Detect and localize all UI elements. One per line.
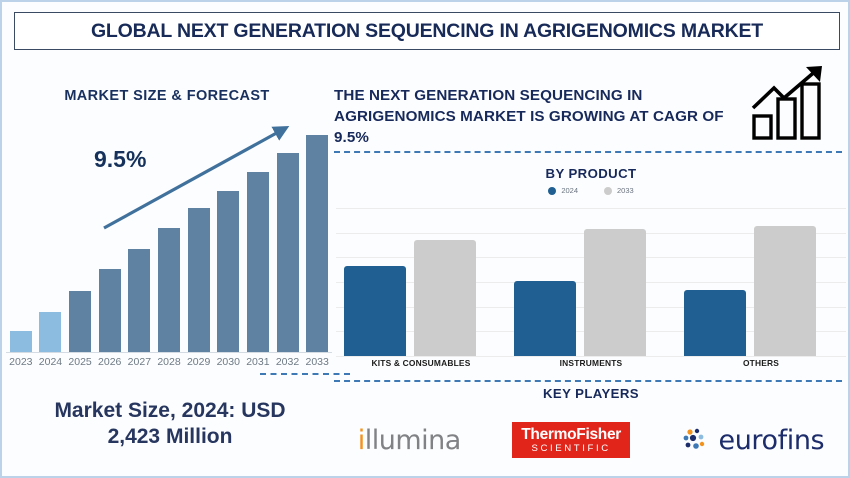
forecast-year-label: 2025 — [64, 356, 96, 368]
by-product-title: BY PRODUCT — [332, 166, 850, 181]
forecast-bar-fill — [158, 228, 180, 352]
legend-item[interactable]: 2024 — [548, 186, 578, 195]
forecast-bar — [247, 172, 269, 352]
forecast-year-label: 2030 — [212, 356, 244, 368]
product-bar — [754, 226, 816, 356]
legend-label: 2033 — [617, 186, 634, 195]
forecast-year-label: 2028 — [153, 356, 185, 368]
infographic-root: GLOBAL NEXT GENERATION SEQUENCING IN AGR… — [0, 0, 850, 478]
legend-swatch-icon — [604, 187, 612, 195]
forecast-bar — [306, 135, 328, 352]
eurofins-logo: eurofins — [681, 425, 824, 456]
key-players-logos: illumina ThermoFisher SCIENTIFIC eurofin… — [332, 410, 850, 470]
illumina-logo-rest: llumina — [365, 425, 461, 456]
forecast-heading: MARKET SIZE & FORECAST — [2, 88, 332, 104]
title-bar: GLOBAL NEXT GENERATION SEQUENCING IN AGR… — [14, 12, 840, 50]
forecast-bar-fill — [306, 135, 328, 352]
forecast-year-label: 2033 — [301, 356, 333, 368]
product-bar — [414, 240, 476, 356]
forecast-year-label: 2026 — [94, 356, 126, 368]
by-product-panel: THE NEXT GENERATION SEQUENCING IN AGRIGE… — [332, 58, 850, 478]
forecast-bar-fill — [39, 312, 61, 352]
gridline — [336, 356, 846, 357]
legend-swatch-icon — [548, 187, 556, 195]
product-bar — [514, 281, 576, 356]
thermofisher-logo-line2: SCIENTIFIC — [521, 444, 621, 454]
market-size-line1: Market Size, 2024: USD — [54, 399, 285, 422]
forecast-bar-chart — [6, 124, 332, 352]
bar-chart-growth-icon — [748, 64, 838, 142]
forecast-baseline — [6, 352, 332, 353]
by-product-category-axis: KITS & CONSUMABLESINSTRUMENTSOTHERS — [336, 358, 846, 374]
forecast-year-axis: 2023202420252026202720282029203020312032… — [6, 356, 332, 374]
players-dashed-divider — [334, 380, 842, 382]
forecast-bar — [99, 269, 121, 352]
illumina-logo-i: i — [358, 425, 365, 456]
forecast-bar — [217, 191, 239, 352]
forecast-year-label: 2024 — [34, 356, 66, 368]
product-category-label: INSTRUMENTS — [506, 358, 676, 368]
legend-item[interactable]: 2033 — [604, 186, 634, 195]
forecast-bar-fill — [277, 153, 299, 352]
illumina-logo: illumina — [358, 425, 461, 456]
forecast-bar-fill — [188, 208, 210, 352]
by-product-legend: 20242033 — [332, 186, 850, 195]
forecast-bar — [277, 153, 299, 352]
forecast-bar-fill — [247, 172, 269, 352]
forecast-bar — [10, 331, 32, 352]
forecast-bar — [158, 228, 180, 352]
market-size-line2: 2,423 Million — [108, 425, 233, 448]
forecast-bar-fill — [128, 249, 150, 352]
market-size-callout: Market Size, 2024: USD 2,423 Million — [8, 398, 332, 451]
eurofins-dots-icon — [681, 425, 711, 455]
forecast-bar-fill — [99, 269, 121, 352]
forecast-bar-fill — [217, 191, 239, 352]
market-size-forecast-panel: MARKET SIZE & FORECAST 9.5% 202320242025… — [2, 58, 332, 388]
eurofins-logo-text: eurofins — [718, 425, 824, 456]
product-bar — [684, 290, 746, 356]
forecast-bar — [128, 249, 150, 352]
product-bar — [344, 266, 406, 356]
forecast-year-label: 2023 — [5, 356, 37, 368]
product-category-label: KITS & CONSUMABLES — [336, 358, 506, 368]
gridline — [336, 208, 846, 209]
thermofisher-logo: ThermoFisher SCIENTIFIC — [512, 422, 630, 458]
forecast-bar-fill — [69, 291, 91, 352]
page-title: GLOBAL NEXT GENERATION SEQUENCING IN AGR… — [91, 20, 763, 43]
forecast-year-label: 2029 — [183, 356, 215, 368]
forecast-bar — [188, 208, 210, 352]
product-bar — [584, 229, 646, 356]
legend-label: 2024 — [561, 186, 578, 195]
forecast-bar-fill — [10, 331, 32, 352]
by-product-bar-chart — [336, 208, 846, 356]
headline-dashed-divider — [334, 151, 842, 153]
key-players-title: KEY PLAYERS — [332, 386, 850, 401]
forecast-year-label: 2031 — [242, 356, 274, 368]
forecast-year-label: 2032 — [272, 356, 304, 368]
forecast-bar — [69, 291, 91, 352]
forecast-year-label: 2027 — [123, 356, 155, 368]
product-category-label: OTHERS — [676, 358, 846, 368]
forecast-bar — [39, 312, 61, 352]
growth-headline: THE NEXT GENERATION SEQUENCING IN AGRIGE… — [334, 86, 734, 149]
thermofisher-logo-line1: ThermoFisher — [521, 427, 621, 443]
